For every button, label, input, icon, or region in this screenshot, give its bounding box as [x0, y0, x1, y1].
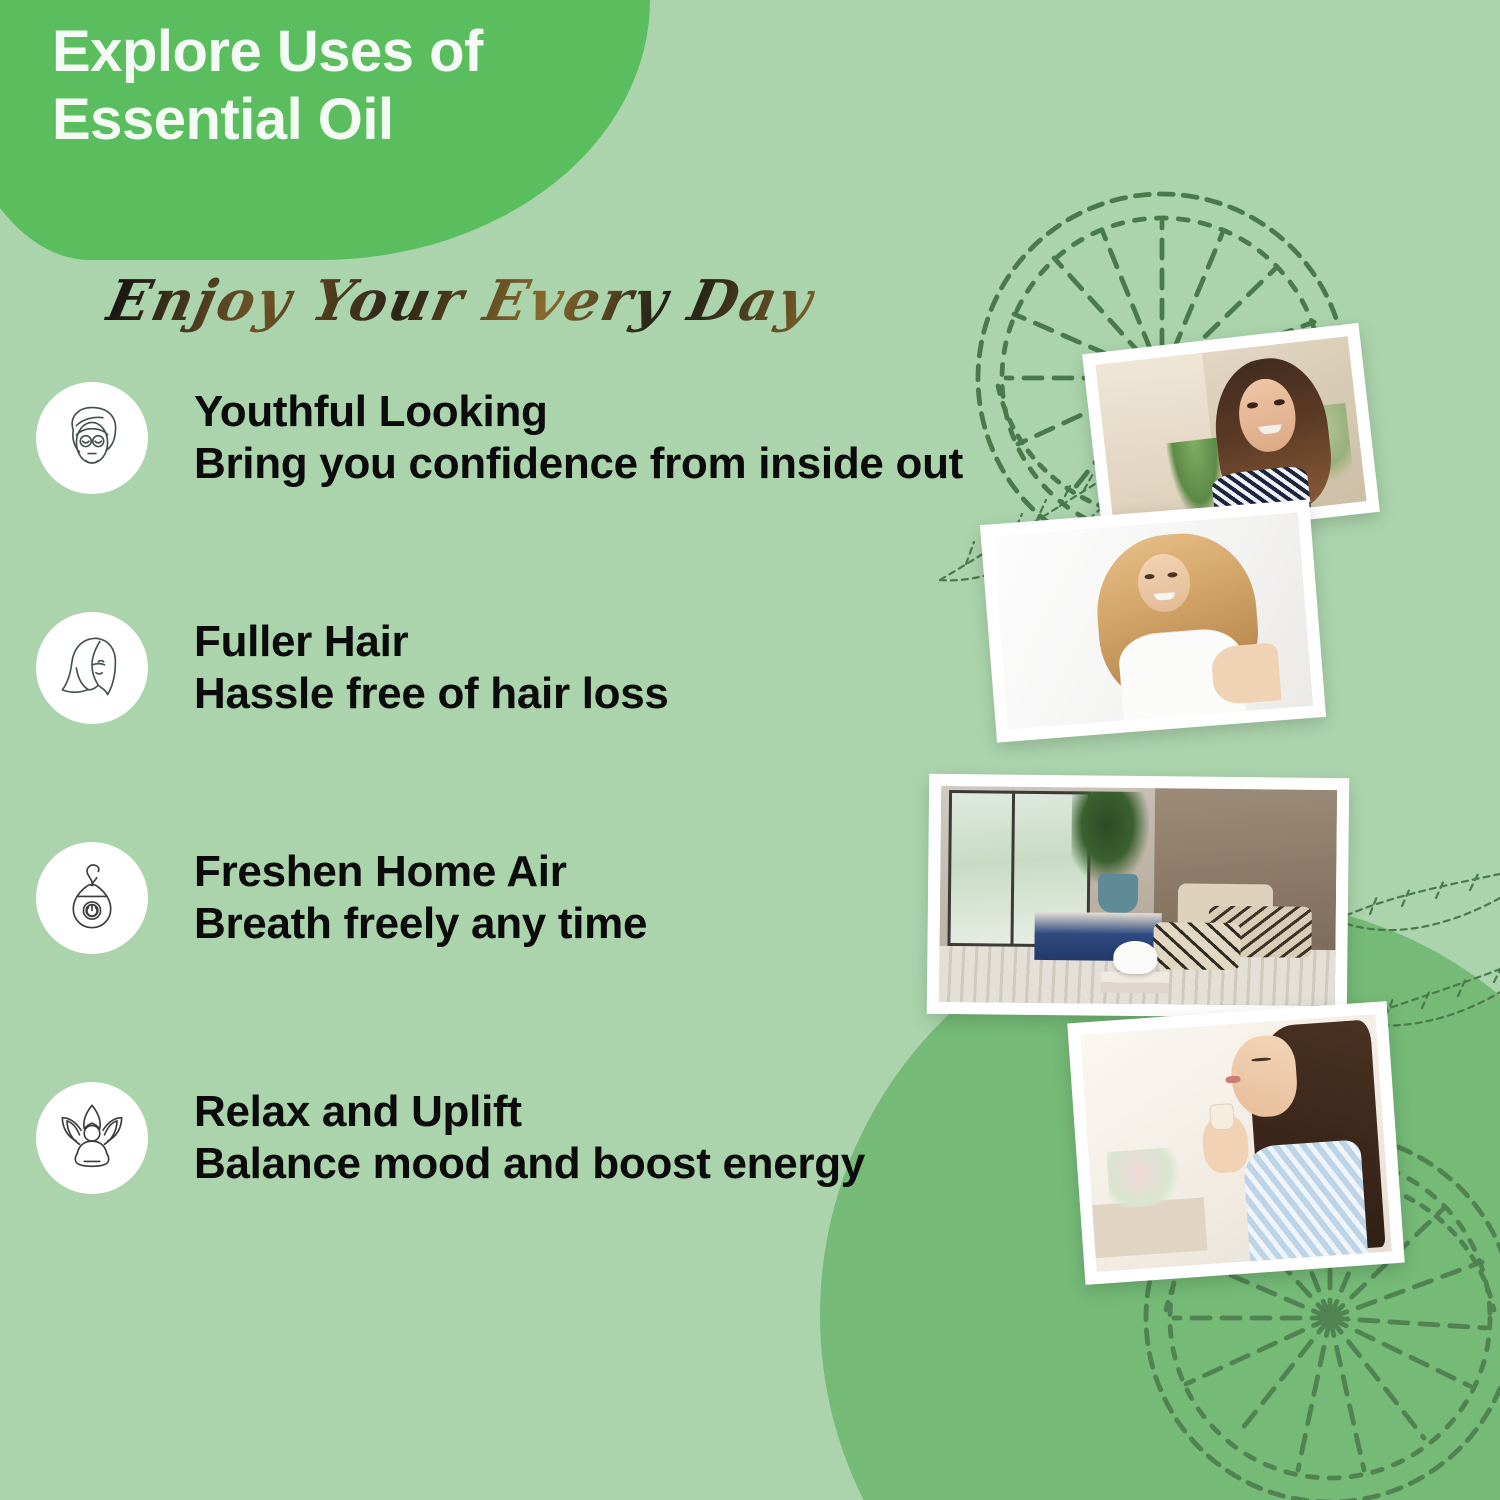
feature-title: Relax and Uplift — [194, 1088, 865, 1136]
scene-fragrance — [1080, 1014, 1392, 1272]
feature-title: Fuller Hair — [194, 618, 669, 666]
tagline-script: Enjoy Your Every Day — [101, 268, 820, 334]
feature-item-freshen-home-air[interactable]: Freshen Home Air Breath freely any time — [36, 838, 1036, 958]
photo-image — [993, 512, 1313, 729]
scene-blonde-hair — [993, 512, 1313, 729]
face-mask-icon — [36, 382, 148, 494]
lotus-meditation-icon — [36, 1082, 148, 1194]
feature-item-relax-and-uplift[interactable]: Relax and Uplift Balance mood and boost … — [36, 1078, 1036, 1198]
feature-title: Freshen Home Air — [194, 848, 647, 896]
feature-item-fuller-hair[interactable]: Fuller Hair Hassle free of hair loss — [36, 608, 1036, 728]
feature-text: Fuller Hair Hassle free of hair loss — [194, 618, 669, 717]
diffuser-icon — [36, 842, 148, 954]
hair-profile-icon — [36, 612, 148, 724]
feature-subtitle: Hassle free of hair loss — [194, 670, 669, 718]
photo-blonde-wavy-hair — [980, 499, 1326, 742]
feature-text: Freshen Home Air Breath freely any time — [194, 848, 647, 947]
photo-image — [939, 786, 1337, 1006]
page-title: Explore Uses of Essential Oil — [52, 18, 672, 155]
feature-subtitle: Breath freely any time — [194, 900, 647, 948]
feature-subtitle: Bring you confidence from inside out — [194, 440, 963, 488]
photo-living-room-diffuser — [927, 774, 1349, 1018]
feature-subtitle: Balance mood and boost energy — [194, 1140, 865, 1188]
feature-item-youthful-looking[interactable]: Youthful Looking Bring you confidence fr… — [36, 378, 1036, 498]
scene-smiling-woman — [1095, 336, 1366, 530]
feature-text: Youthful Looking Bring you confidence fr… — [194, 388, 963, 487]
feature-text: Relax and Uplift Balance mood and boost … — [194, 1088, 865, 1187]
photo-image — [1095, 336, 1366, 530]
feature-list: Youthful Looking Bring you confidence fr… — [36, 378, 1036, 1198]
photo-image — [1080, 1014, 1392, 1272]
scene-living-room — [939, 786, 1337, 1006]
feature-title: Youthful Looking — [194, 388, 963, 436]
photo-woman-applying-fragrance — [1067, 1001, 1404, 1285]
poster-canvas: Explore Uses of Essential Oil Enjoy Your… — [0, 0, 1500, 1500]
